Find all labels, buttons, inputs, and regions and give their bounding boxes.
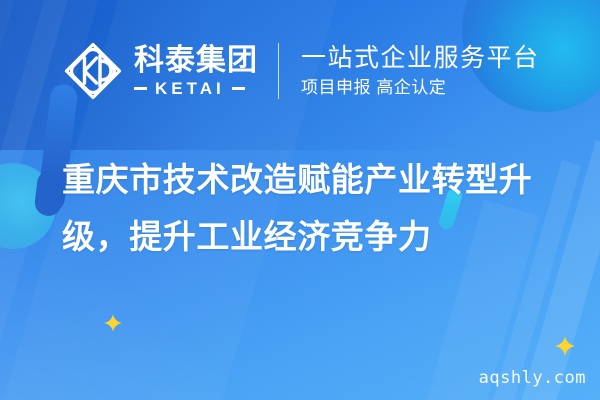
blue-capsule-shape (33, 169, 65, 218)
sparkle-icon (555, 336, 575, 356)
company-name-cn: 科泰集团 (134, 45, 258, 77)
cyan-circle-left (0, 163, 56, 249)
banner-header: 科泰集团 KETAI 一站式企业服务平台 项目申报 高企认定 (62, 40, 540, 102)
vertical-divider (278, 43, 279, 99)
company-name-en-row: KETAI (134, 80, 258, 97)
dash-right-icon (232, 87, 245, 90)
diagonal-stripe (0, 0, 14, 400)
kt-diamond-logo-icon (62, 40, 124, 102)
tagline-main: 一站式企业服务平台 (301, 44, 540, 74)
watermark-text: aqshly.com (479, 368, 586, 388)
logo-wordmark: 科泰集团 KETAI (134, 45, 258, 97)
company-name-en: KETAI (155, 80, 225, 97)
promo-banner: 科泰集团 KETAI 一站式企业服务平台 项目申报 高企认定 重庆市技术改造赋能… (0, 0, 600, 400)
tagline-block: 一站式企业服务平台 项目申报 高企认定 (301, 44, 540, 99)
dash-left-icon (134, 87, 147, 90)
company-logo: 科泰集团 KETAI (62, 40, 258, 102)
tagline-sub: 项目申报 高企认定 (301, 78, 540, 98)
sparkle-icon (104, 314, 122, 332)
banner-title: 重庆市技术改造赋能产业转型升级，提升工业经济竞争力 (62, 152, 546, 266)
